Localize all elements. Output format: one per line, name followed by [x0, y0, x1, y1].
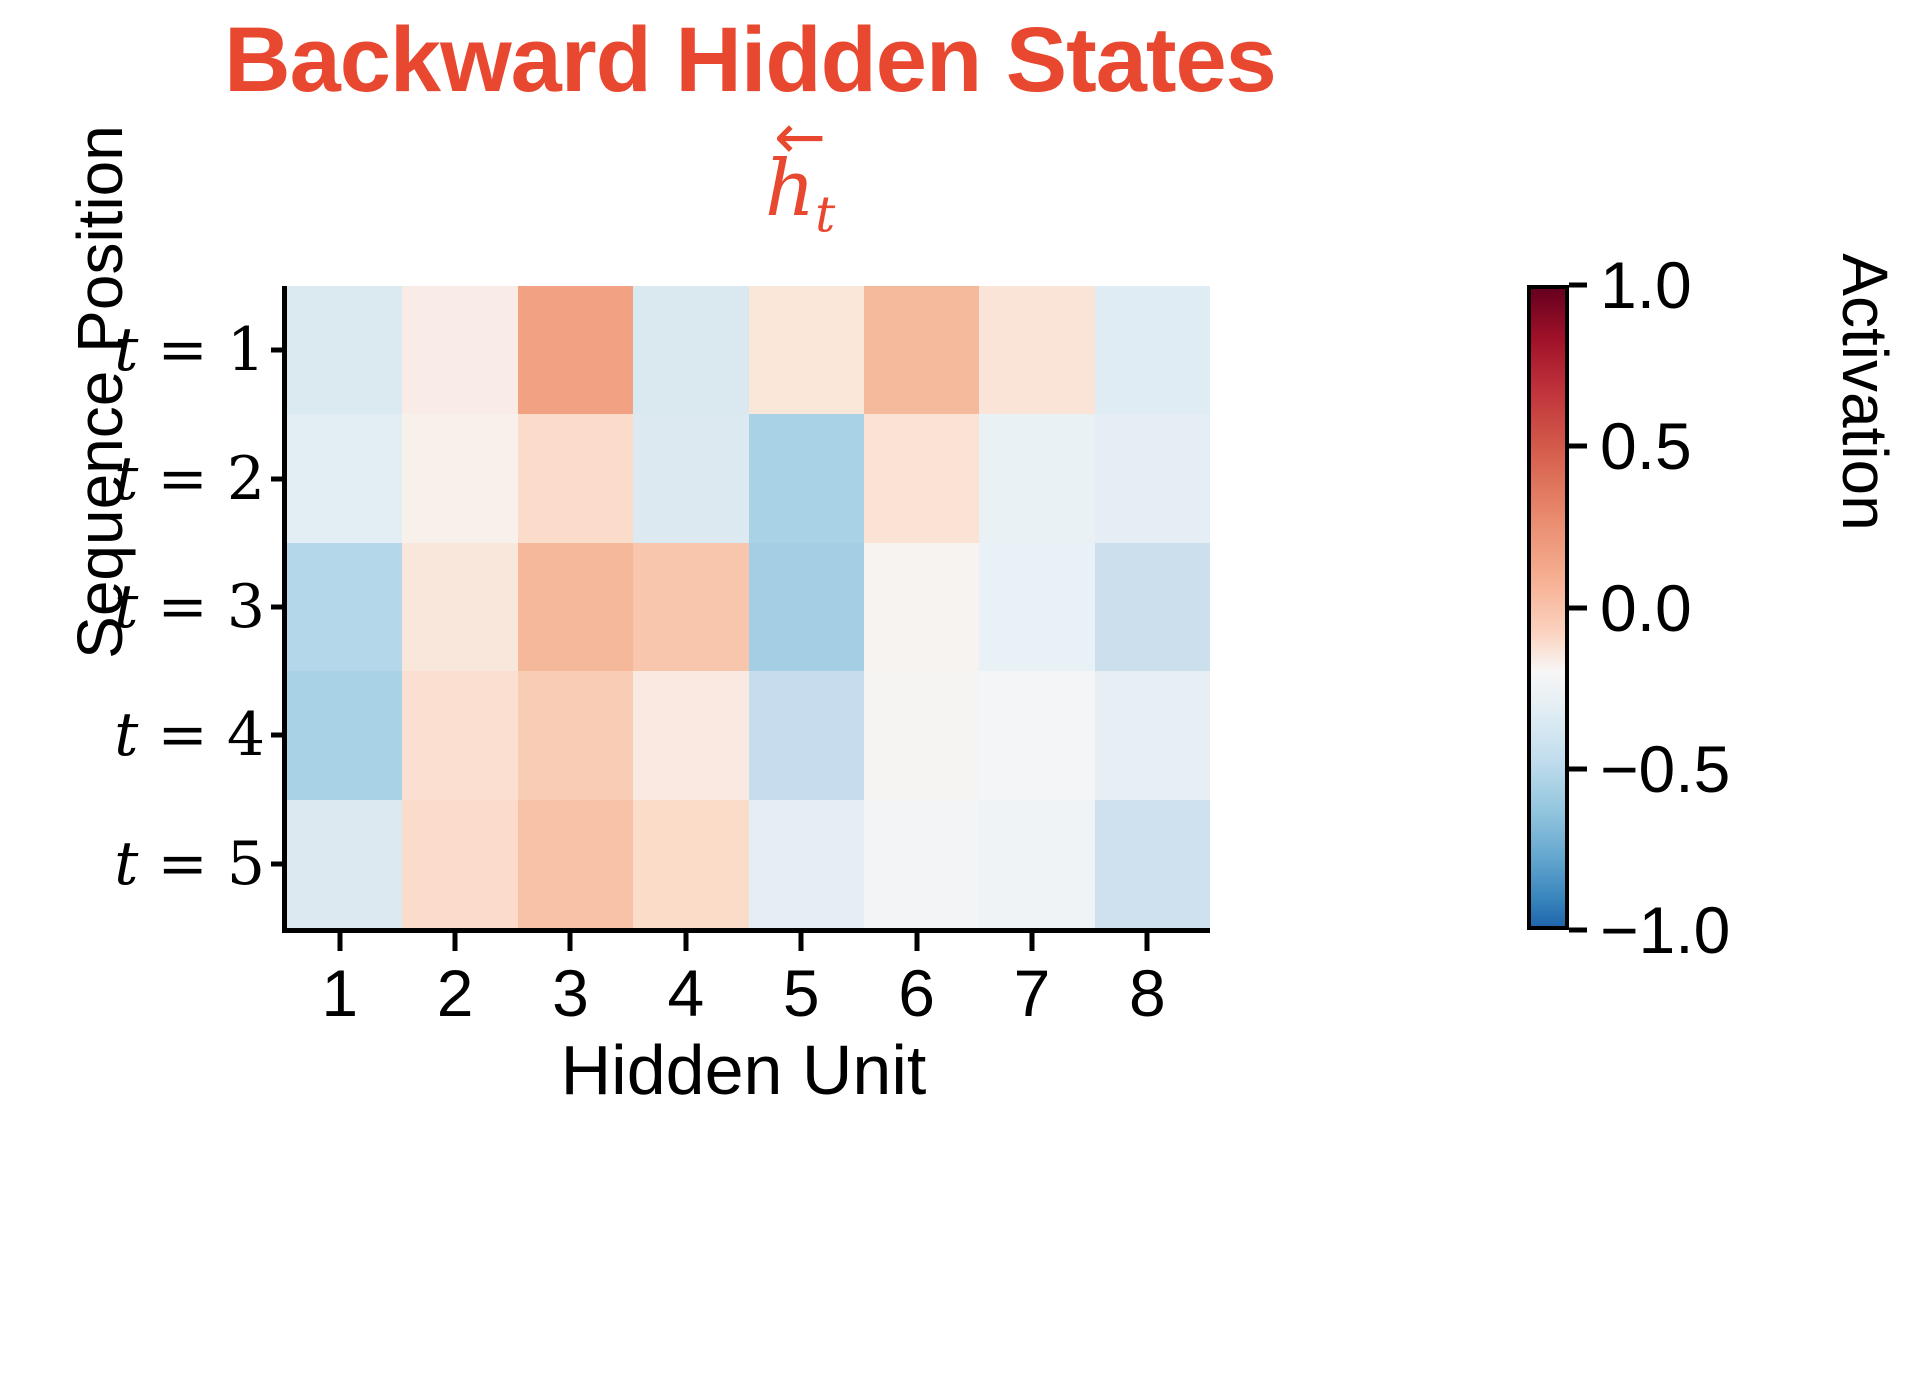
y-tick-label: t = 2	[100, 444, 265, 514]
x-tick-label: 6	[857, 955, 977, 1031]
y-tick-mark	[271, 605, 285, 610]
heatmap-cell	[979, 800, 1094, 928]
colorbar-tick-label: −1.0	[1600, 892, 1730, 968]
x-tick-label: 1	[280, 955, 400, 1031]
heatmap-cell	[287, 800, 402, 928]
heatmap-cell	[518, 800, 633, 928]
heatmap-plot-area	[282, 286, 1210, 933]
heatmap-cell	[402, 286, 517, 414]
heatmap-cell	[749, 414, 864, 542]
heatmap-cell	[749, 543, 864, 671]
x-tick-mark	[1145, 933, 1150, 951]
colorbar-tick-label: 0.0	[1600, 570, 1692, 646]
heatmap-cell	[749, 800, 864, 928]
colorbar-tick-label: 1.0	[1600, 247, 1692, 323]
heatmap-cell	[633, 800, 748, 928]
colorbar-tick-mark	[1569, 283, 1587, 288]
x-axis-label: Hidden Unit	[282, 1030, 1205, 1110]
heatmap-cell	[518, 671, 633, 799]
heatmap-cell	[402, 414, 517, 542]
heatmap-cell	[402, 543, 517, 671]
x-tick-mark	[1029, 933, 1034, 951]
heatmap-cell	[979, 671, 1094, 799]
x-tick-mark	[683, 933, 688, 951]
heatmap-cell	[1095, 671, 1210, 799]
heatmap-cell	[518, 414, 633, 542]
heatmap-cell	[1095, 543, 1210, 671]
heatmap-cell	[633, 543, 748, 671]
heatmap-figure: Backward Hidden States ← ht Sequence Pos…	[0, 0, 1920, 1381]
hidden-state-symbol: ht	[690, 149, 910, 241]
colorbar-label: Activation	[1828, 72, 1902, 712]
y-tick-mark	[271, 861, 285, 866]
figure-title: Backward Hidden States	[0, 8, 1500, 113]
heatmap-cell	[1095, 286, 1210, 414]
heatmap-cell	[1095, 800, 1210, 928]
symbol-h: h	[765, 144, 815, 234]
x-tick-label: 4	[626, 955, 746, 1031]
hidden-state-annotation: ← ht	[690, 118, 910, 241]
symbol-subscript-t: t	[815, 186, 835, 244]
heatmap-cell	[1095, 414, 1210, 542]
y-tick-mark	[271, 733, 285, 738]
heatmap-cell	[979, 543, 1094, 671]
heatmap-cell	[402, 800, 517, 928]
heatmap-cell	[749, 286, 864, 414]
colorbar-tick-label: −0.5	[1600, 731, 1730, 807]
x-tick-mark	[453, 933, 458, 951]
heatmap-cell	[749, 671, 864, 799]
heatmap-cell	[864, 671, 979, 799]
x-tick-label: 5	[741, 955, 861, 1031]
colorbar-tick-label: 0.5	[1600, 408, 1692, 484]
colorbar-tick-mark	[1569, 928, 1587, 933]
y-tick-label: t = 3	[100, 572, 265, 642]
x-tick-mark	[337, 933, 342, 951]
heatmap-cell	[979, 286, 1094, 414]
colorbar-gradient	[1527, 285, 1569, 930]
x-tick-label: 7	[972, 955, 1092, 1031]
heatmap-cell	[864, 286, 979, 414]
x-tick-label: 8	[1087, 955, 1207, 1031]
y-tick-label: t = 1	[100, 315, 265, 385]
colorbar-tick-mark	[1569, 766, 1587, 771]
colorbar-tick-mark	[1569, 605, 1587, 610]
y-tick-label: t = 4	[100, 700, 265, 770]
heatmap-cell	[402, 671, 517, 799]
x-tick-mark	[799, 933, 804, 951]
x-tick-label: 2	[395, 955, 515, 1031]
x-tick-label: 3	[510, 955, 630, 1031]
heatmap-cell	[287, 543, 402, 671]
heatmap-cell	[633, 414, 748, 542]
heatmap-cell	[633, 671, 748, 799]
heatmap-cell-grid	[287, 286, 1210, 928]
x-tick-mark	[914, 933, 919, 951]
heatmap-cell	[287, 286, 402, 414]
y-tick-label: t = 5	[100, 829, 265, 899]
heatmap-cell	[979, 414, 1094, 542]
heatmap-cell	[518, 286, 633, 414]
colorbar-tick-mark	[1569, 444, 1587, 449]
heatmap-cell	[633, 286, 748, 414]
heatmap-cell	[864, 414, 979, 542]
x-tick-mark	[568, 933, 573, 951]
heatmap-cell	[518, 543, 633, 671]
y-tick-mark	[271, 348, 285, 353]
heatmap-cell	[287, 414, 402, 542]
heatmap-cell	[864, 800, 979, 928]
heatmap-cell	[287, 671, 402, 799]
heatmap-cell	[864, 543, 979, 671]
y-tick-mark	[271, 476, 285, 481]
